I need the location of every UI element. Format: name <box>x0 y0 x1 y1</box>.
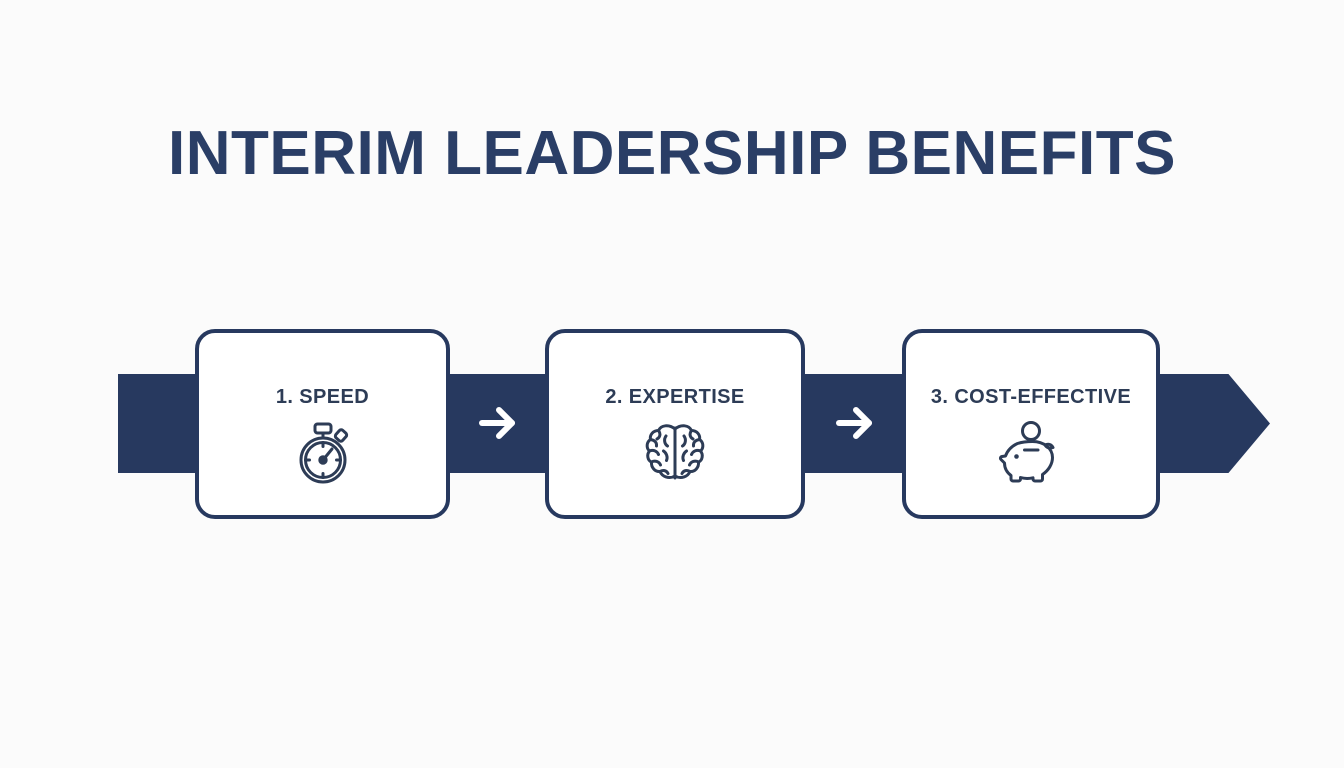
step-card-label: 3. COST-EFFECTIVE <box>931 386 1131 409</box>
page-title: INTERIM LEADERSHIP BENEFITS <box>0 118 1344 190</box>
step-card-speed[interactable]: 1. SPEED <box>195 329 450 519</box>
stopwatch-icon <box>287 418 359 486</box>
step-card-cost-effective[interactable]: 3. COST-EFFECTIVE <box>902 329 1160 519</box>
piggy-bank-icon <box>995 418 1067 486</box>
arrow-right-icon-1 <box>474 400 522 446</box>
arrow-right-glyph <box>474 400 522 446</box>
brain-icon <box>639 418 711 486</box>
arrow-right-glyph <box>831 400 879 446</box>
arrow-right-icon-2 <box>831 400 879 446</box>
step-card-label: 2. EXPERTISE <box>605 386 744 409</box>
slide-canvas: INTERIM LEADERSHIP BENEFITS 1. SPEED <box>0 0 1344 768</box>
step-card-label: 1. SPEED <box>276 386 369 409</box>
step-card-expertise[interactable]: 2. EXPERTISE <box>545 329 805 519</box>
